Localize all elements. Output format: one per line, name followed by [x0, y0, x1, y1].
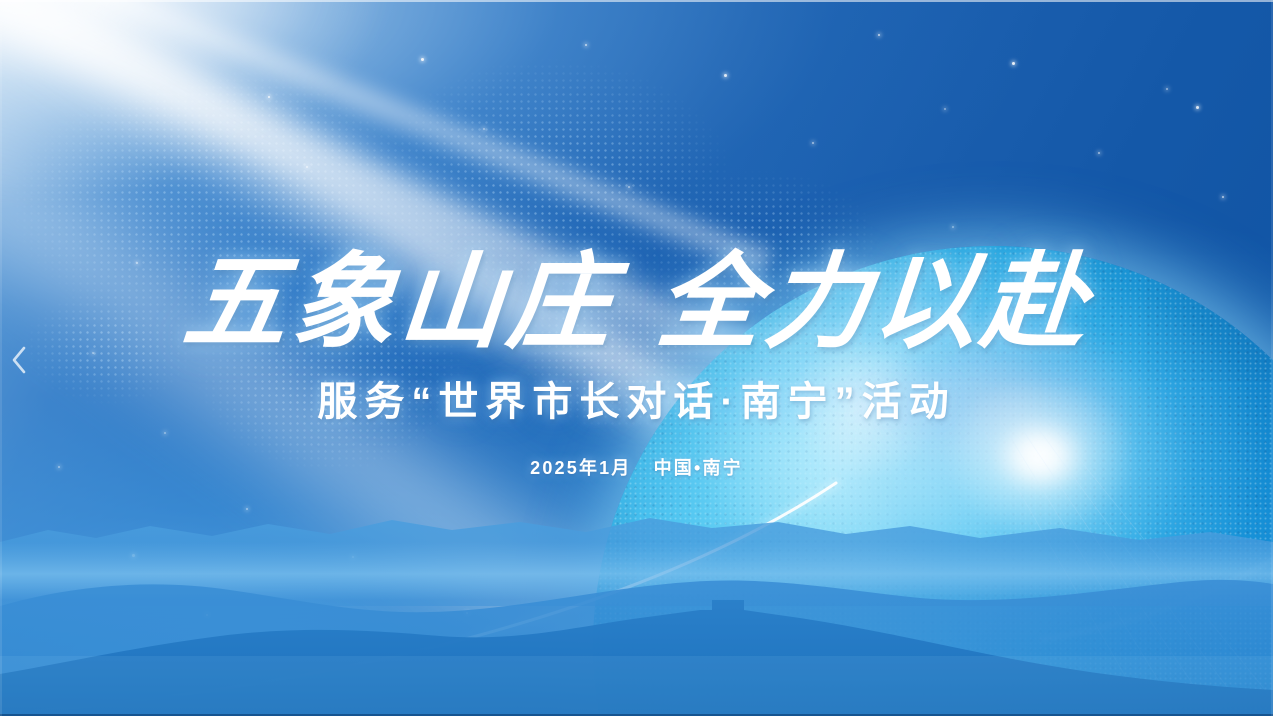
chevron-left-icon — [10, 345, 28, 375]
mountain-silhouette-icon — [0, 486, 1273, 716]
slide-banner: 五象山庄全力以赴 服务“世界市长对话·南宁”活动 2025年1月中国•南宁 — [0, 0, 1273, 716]
dotted-world-map-icon — [0, 0, 1000, 560]
carousel-prev-button[interactable] — [4, 338, 34, 382]
